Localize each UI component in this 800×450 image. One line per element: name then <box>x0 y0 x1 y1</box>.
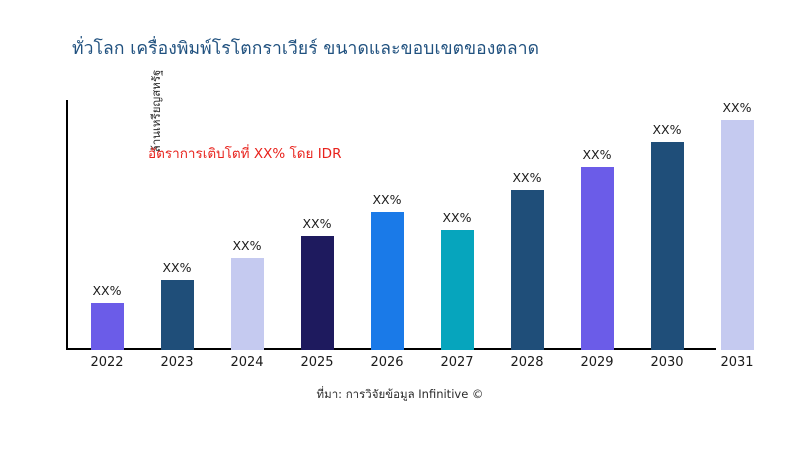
bar[interactable] <box>231 258 264 350</box>
bar-value-label: XX% <box>702 100 772 115</box>
bar-value-label: XX% <box>352 192 422 207</box>
bar-value-label: XX% <box>212 238 282 253</box>
bar[interactable] <box>161 280 194 350</box>
x-tick-label: 2024 <box>212 355 282 370</box>
bar[interactable] <box>651 142 684 350</box>
bar-value-label: XX% <box>562 147 632 162</box>
chart-container: ทั่วโลก เครื่องพิมพ์โรโตกราเวียร์ ขนาดแล… <box>0 0 800 450</box>
x-tick-label: 2031 <box>702 355 772 370</box>
bar-group: XX% <box>352 100 422 350</box>
x-tick-label: 2023 <box>142 355 212 370</box>
bar-value-label: XX% <box>282 216 352 231</box>
x-tick-label: 2022 <box>72 355 142 370</box>
x-tick-label: 2030 <box>632 355 702 370</box>
bar[interactable] <box>91 303 124 350</box>
x-tick-label: 2026 <box>352 355 422 370</box>
source-note: ที่มา: การวิจัยข้อมูล Infinitive © <box>0 386 800 404</box>
cagr-annotation: อัตราการเติบโตที่ XX% โดย IDR <box>148 142 341 164</box>
bar-group: XX% <box>72 100 142 350</box>
x-tick-label: 2027 <box>422 355 492 370</box>
bar[interactable] <box>511 190 544 350</box>
plot-area: XX%XX%XX%XX%XX%XX%XX%XX%XX%XX% <box>66 100 786 350</box>
y-axis-title: ล้านเหรียญสหรัฐ <box>22 0 44 122</box>
x-axis-tick-labels: 2022202320242025202620272028202920302031 <box>66 355 786 379</box>
x-tick-label: 2025 <box>282 355 352 370</box>
bar[interactable] <box>581 167 614 350</box>
bar-group: XX% <box>422 100 492 350</box>
bar-value-label: XX% <box>492 170 562 185</box>
bar-group: XX% <box>212 100 282 350</box>
bar-group: XX% <box>632 100 702 350</box>
bar[interactable] <box>371 212 404 350</box>
bar-group: XX% <box>492 100 562 350</box>
bar[interactable] <box>301 236 334 350</box>
x-tick-label: 2028 <box>492 355 562 370</box>
bar-value-label: XX% <box>422 210 492 225</box>
bar[interactable] <box>721 120 754 350</box>
bar-group: XX% <box>142 100 212 350</box>
bar-group: XX% <box>562 100 632 350</box>
x-tick-label: 2029 <box>562 355 632 370</box>
bar-value-label: XX% <box>632 122 702 137</box>
bar[interactable] <box>441 230 474 350</box>
bar-value-label: XX% <box>142 260 212 275</box>
bar-group: XX% <box>702 100 772 350</box>
bar-group: XX% <box>282 100 352 350</box>
bars-layer: XX%XX%XX%XX%XX%XX%XX%XX%XX%XX% <box>66 100 786 350</box>
chart-title: ทั่วโลก เครื่องพิมพ์โรโตกราเวียร์ ขนาดแล… <box>72 38 772 61</box>
bar-value-label: XX% <box>72 283 142 298</box>
